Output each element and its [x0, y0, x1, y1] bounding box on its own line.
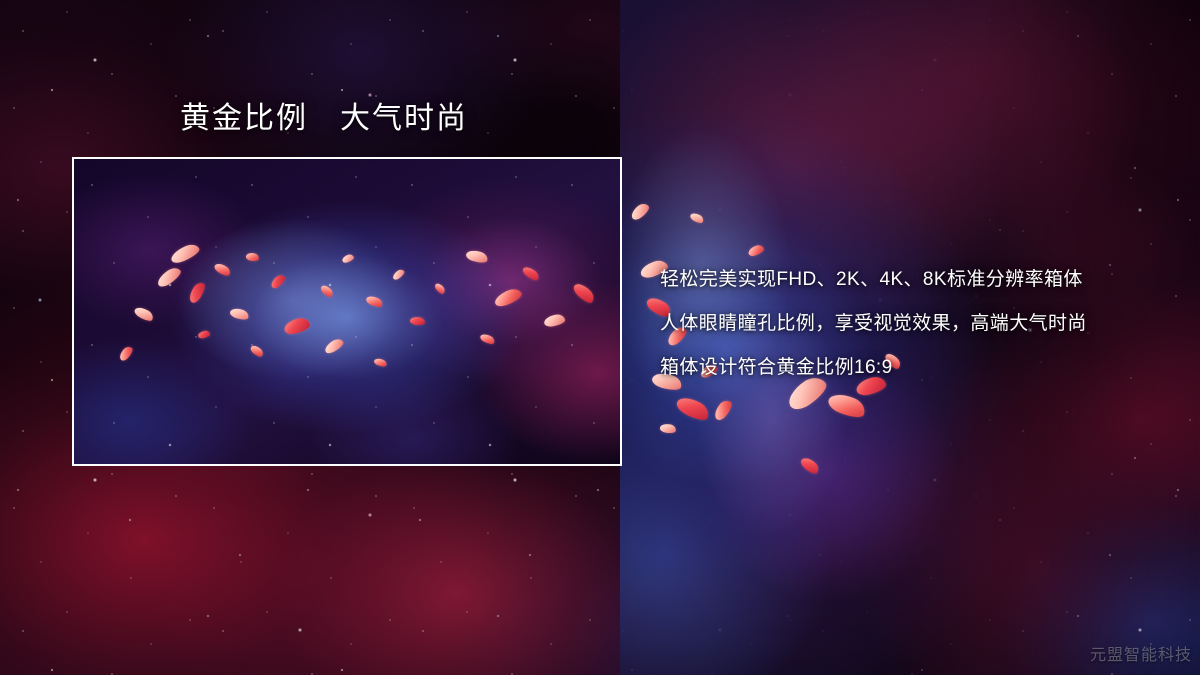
flower-petal: [629, 201, 652, 222]
watermark: 元盟智能科技: [1090, 641, 1192, 665]
page-title: 黄金比例 大气时尚: [180, 100, 468, 138]
flower-petal: [826, 390, 868, 422]
flower-petal: [747, 244, 765, 258]
body-line-3: 箱体设计符合黄金比例16:9: [660, 346, 1160, 390]
flower-petal: [711, 398, 734, 423]
flower-petal: [659, 423, 676, 435]
body-line-1: 轻松完美实现FHD、2K、4K、8K标准分辨率箱体: [660, 258, 1160, 302]
flower-petal: [674, 393, 712, 424]
body-line-2: 人体眼睛瞳孔比例，享受视觉效果，高端大气时尚: [660, 302, 1160, 346]
flower-petal: [689, 211, 705, 225]
body-text-block: 轻松完美实现FHD、2K、4K、8K标准分辨率箱体 人体眼睛瞳孔比例，享受视觉效…: [660, 258, 1160, 390]
presentation-slide: 黄金比例 大气时尚 轻松完美实现FHD、2K、4K、8K标准分辨率箱体 人体眼睛…: [0, 0, 1200, 675]
flower-petal: [799, 455, 821, 476]
inset-starfield: [74, 159, 620, 464]
framed-inset-image[interactable]: [72, 157, 622, 466]
